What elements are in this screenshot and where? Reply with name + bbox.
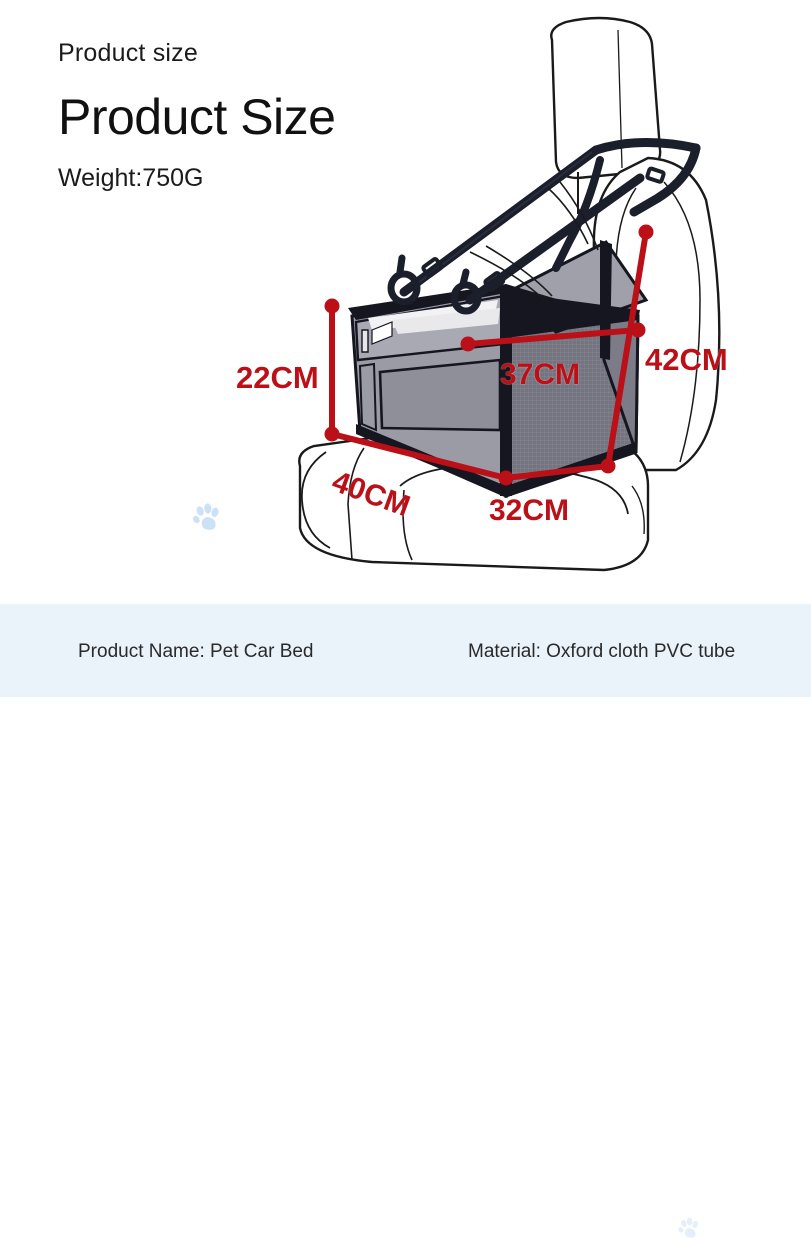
product-weight-label: Weight:750G [58,165,335,193]
product-info-footer: Product Name: Pet Car Bed Material: Oxfo… [0,604,811,697]
header-block: Product size Product Size Weight:750G [58,40,335,192]
footer-material: Material: Oxford cloth PVC tube [468,641,735,663]
paw-print-icon [676,1215,702,1241]
page-title: Product Size [58,90,335,145]
dimension-label-37cm: 37CM [500,358,580,392]
product-size-infographic: Product size Product Size Weight:750G [0,0,811,697]
dimension-label-32cm: 32CM [489,494,569,528]
dimension-label-42cm: 42CM [645,342,728,378]
dimension-label-22cm: 22CM [236,360,319,396]
page-subtitle: Product size [58,40,335,68]
footer-product-name: Product Name: Pet Car Bed [78,641,314,663]
